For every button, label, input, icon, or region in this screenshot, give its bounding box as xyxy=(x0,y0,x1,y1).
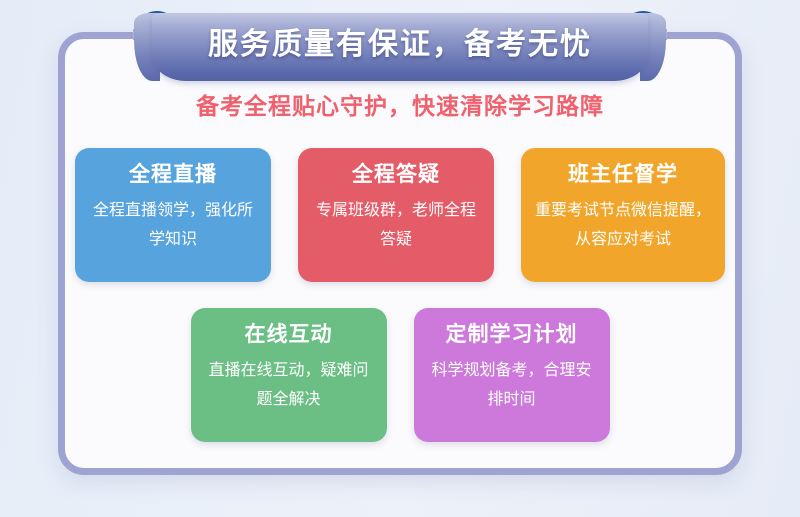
feature-card[interactable]: 班主任督学 重要考试节点微信提醒，从容应对考试 xyxy=(521,148,725,282)
ribbon-banner: 服务质量有保证，备考无忧 xyxy=(0,5,800,83)
feature-card-row-bottom: 在线互动 直播在线互动，疑难问题全解决 定制学习计划 科学规划备考，合理安排时间 xyxy=(0,308,800,442)
feature-card-title: 定制学习计划 xyxy=(428,321,596,349)
ribbon-body: 服务质量有保证，备考无忧 xyxy=(152,13,648,81)
feature-card-title: 在线互动 xyxy=(205,321,373,349)
feature-card-desc: 科学规划备考，合理安排时间 xyxy=(428,356,596,414)
feature-card-desc: 全程直播领学，强化所学知识 xyxy=(89,196,257,254)
feature-card-row-top: 全程直播 全程直播领学，强化所学知识 全程答疑 专属班级群，老师全程答疑 班主任… xyxy=(0,148,800,282)
subtitle-text: 备考全程贴心守护，快速清除学习路障 xyxy=(0,87,800,121)
feature-card-title: 班主任督学 xyxy=(535,161,711,189)
feature-card-desc: 专属班级群，老师全程答疑 xyxy=(312,196,480,254)
feature-card-desc: 直播在线互动，疑难问题全解决 xyxy=(205,356,373,414)
feature-card[interactable]: 全程答疑 专属班级群，老师全程答疑 xyxy=(298,148,494,282)
feature-card-desc: 重要考试节点微信提醒，从容应对考试 xyxy=(535,196,711,254)
feature-card-title: 全程直播 xyxy=(89,161,257,189)
feature-card[interactable]: 在线互动 直播在线互动，疑难问题全解决 xyxy=(191,308,387,442)
feature-card-title: 全程答疑 xyxy=(312,161,480,189)
feature-card[interactable]: 定制学习计划 科学规划备考，合理安排时间 xyxy=(414,308,610,442)
feature-card[interactable]: 全程直播 全程直播领学，强化所学知识 xyxy=(75,148,271,282)
banner-title: 服务质量有保证，备考无忧 xyxy=(152,13,648,81)
